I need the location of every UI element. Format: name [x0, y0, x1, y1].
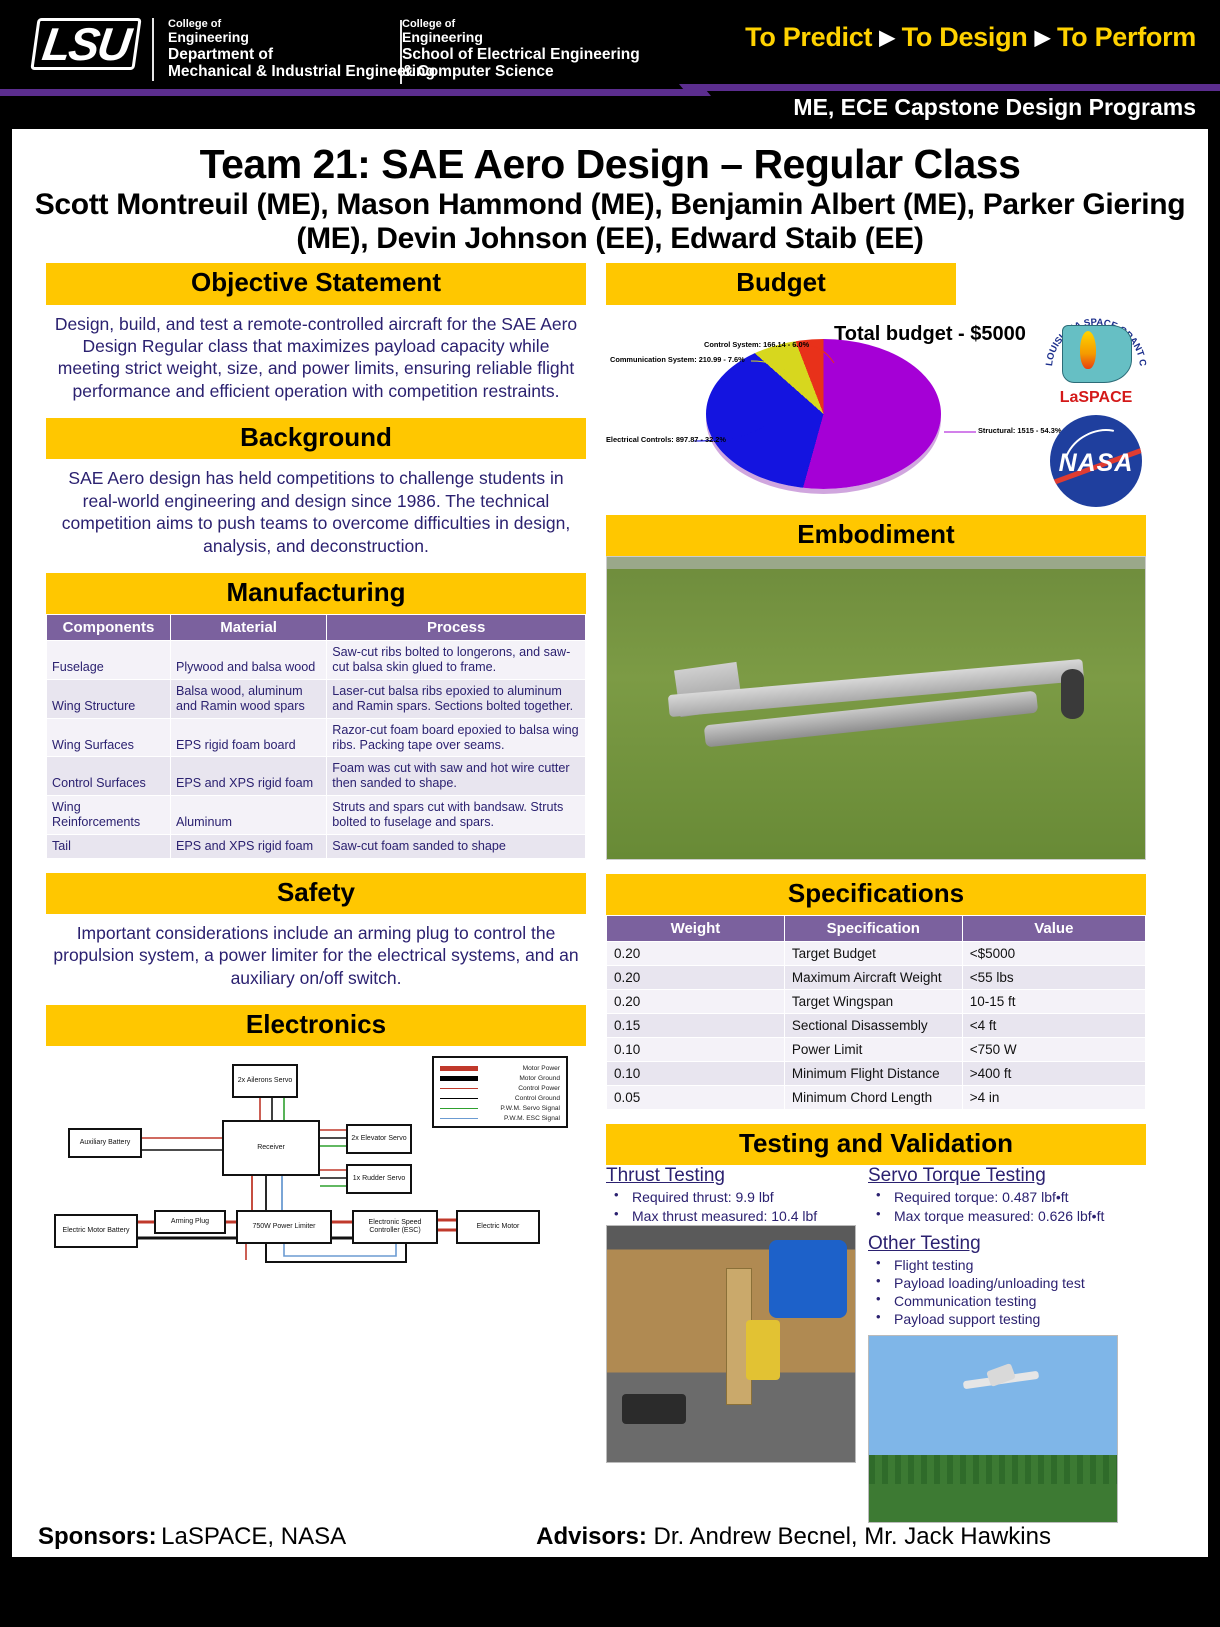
electronics-legend: Motor PowerMotor GroundControl PowerCont… — [432, 1056, 568, 1128]
table-cell: 10-15 ft — [962, 990, 1145, 1014]
poster-header: LSU College of Engineering Department of… — [0, 0, 1220, 88]
header-tagline: To Predict ▶ To Design ▶ To Perform — [745, 22, 1196, 53]
table-row: 0.20Target Budget<$5000 — [607, 942, 1146, 966]
list-item: Max torque measured: 0.626 lbf•ft — [868, 1207, 1146, 1225]
advisors-label: Advisors: — [536, 1523, 647, 1550]
legend-row-0: Motor Power — [440, 1063, 560, 1073]
photo-treeline — [869, 1455, 1117, 1485]
mfg-body-col-2: Process — [327, 615, 586, 641]
testing-heading: Testing and Validation — [606, 1124, 1146, 1165]
servo-torque-testing-list: Required torque: 0.487 lbf•ftMax torque … — [868, 1188, 1146, 1224]
mfg-body-header-row: ComponentsMaterialProcess — [47, 615, 586, 641]
poster-root: LSU College of Engineering Department of… — [0, 0, 1220, 1627]
poster-footnote: Sponsors: LaSPACE, NASA Advisors: Dr. An… — [12, 1523, 1208, 1551]
table-cell: Minimum Chord Length — [784, 1086, 962, 1110]
table-cell: 0.20 — [607, 966, 785, 990]
specifications-heading: Specifications — [606, 874, 1146, 915]
me-department-of: Department of — [168, 46, 435, 63]
budget-pie-wrap: Control System: 166.14 - 6.0% Communicat… — [676, 329, 976, 489]
sponsors-block: Sponsors: LaSPACE, NASA — [38, 1523, 346, 1551]
photo-base-plate — [622, 1394, 686, 1424]
table-cell: Razor-cut foam board epoxied to balsa wi… — [327, 718, 586, 757]
testing-left-column: Thrust Testing Required thrust: 9.9 lbfM… — [606, 1165, 858, 1522]
legend-row-4: P.W.M. Servo Signal — [440, 1103, 560, 1113]
pie-label-communication-system: Communication System: 210.99 - 7.6% — [610, 355, 745, 364]
objective-section: Objective Statement Design, build, and t… — [46, 263, 586, 404]
specifications-section: Specifications WeightSpecificationValue0… — [606, 874, 1146, 1110]
other-testing-list: Flight testingPayload loading/unloading … — [868, 1256, 1146, 1329]
legend-swatch-icon — [440, 1108, 478, 1110]
list-item: Payload support testing — [868, 1310, 1146, 1328]
list-item: Required torque: 0.487 lbf•ft — [868, 1188, 1146, 1206]
table-cell: <4 ft — [962, 1014, 1145, 1038]
table-row: Wing SurfacesEPS rigid foam boardRazor-c… — [47, 718, 586, 757]
table-cell: 0.10 — [607, 1062, 785, 1086]
photo-blue-bucket — [769, 1240, 847, 1318]
me-engineering: Engineering — [168, 30, 435, 46]
legend-label: P.W.M. ESC Signal — [504, 1115, 560, 1122]
pie-label-control-system: Control System: 166.14 - 6.0% — [704, 340, 809, 349]
table-cell: EPS rigid foam board — [170, 718, 326, 757]
table-row: 0.15Sectional Disassembly<4 ft — [607, 1014, 1146, 1038]
electronics-heading: Electronics — [46, 1005, 586, 1046]
lsu-logo: LSU — [30, 18, 141, 70]
electronics-diagram: 2x Ailerons ServoAuxiliary BatteryReceiv… — [46, 1046, 586, 1264]
objective-text: Design, build, and test a remote-control… — [46, 305, 586, 405]
arrow-icon-1: ▶ — [879, 27, 894, 49]
spec-body-col-0: Weight — [607, 916, 785, 942]
legend-row-2: Control Power — [440, 1083, 560, 1093]
header-subhead: ME, ECE Capstone Design Programs — [793, 94, 1196, 121]
poster-authors: Scott Montreuil (ME), Mason Hammond (ME)… — [32, 188, 1188, 255]
table-cell: Saw-cut foam sanded to shape — [327, 834, 586, 858]
table-cell: <55 lbs — [962, 966, 1145, 990]
table-row: Wing StructureBalsa wood, aluminum and R… — [47, 679, 586, 718]
nasa-logo: NASA — [1050, 415, 1142, 507]
table-cell: EPS and XPS rigid foam — [170, 757, 326, 796]
legend-label: P.W.M. Servo Signal — [500, 1105, 560, 1112]
table-cell: Minimum Flight Distance — [784, 1062, 962, 1086]
spec-body-header-row: WeightSpecificationValue — [607, 916, 1146, 942]
spec-body-col-2: Value — [962, 916, 1145, 942]
table-cell: Maximum Aircraft Weight — [784, 966, 962, 990]
laspace-logo: LOUISIANA SPACE GRANT CONSORTIUM LaSPACE — [1040, 313, 1152, 409]
arrow-icon-2: ▶ — [1035, 27, 1050, 49]
manufacturing-heading: Manufacturing — [46, 573, 586, 614]
nasa-wordmark: NASA — [1050, 449, 1142, 478]
table-cell: Sectional Disassembly — [784, 1014, 962, 1038]
footer-black-bar — [0, 1589, 1220, 1627]
flight-test-photo — [868, 1335, 1118, 1523]
table-cell: 0.20 — [607, 942, 785, 966]
safety-section: Safety Important considerations include … — [46, 873, 586, 991]
legend-row-3: Control Ground — [440, 1093, 560, 1103]
divider-2 — [400, 20, 402, 84]
specifications-table: WeightSpecificationValue0.20Target Budge… — [606, 915, 1146, 1110]
table-cell: Plywood and balsa wood — [170, 641, 326, 680]
legend-swatch-icon — [440, 1098, 478, 1100]
aircraft-illustration — [650, 635, 1102, 774]
right-column: Budget Total budget - $5000 Control S — [606, 263, 1146, 1536]
divider-1 — [152, 18, 154, 81]
legend-label: Motor Power — [523, 1065, 560, 1072]
laspace-wordmark: LaSPACE — [1040, 389, 1152, 407]
list-item: Payload loading/unloading test — [868, 1274, 1146, 1292]
servo-torque-testing-title: Servo Torque Testing — [868, 1165, 1146, 1187]
table-row: 0.10Power Limit<750 W — [607, 1038, 1146, 1062]
table-cell: >4 in — [962, 1086, 1145, 1110]
legend-swatch-icon — [440, 1118, 478, 1120]
embodiment-photo — [606, 556, 1146, 860]
table-cell: Wing Structure — [47, 679, 171, 718]
table-row: 0.10Minimum Flight Distance>400 ft — [607, 1062, 1146, 1086]
ece-department-text: College of Engineering School of Electri… — [402, 18, 640, 81]
photo-horizon — [607, 557, 1145, 569]
list-item: Communication testing — [868, 1292, 1146, 1310]
thrust-test-photo — [606, 1225, 856, 1463]
ece-school-of: School of Electrical Engineering — [402, 46, 640, 63]
table-row: Wing ReinforcementsAluminumStruts and sp… — [47, 796, 586, 835]
aircraft-propeller — [1061, 669, 1084, 719]
table-cell: Foam was cut with saw and hot wire cutte… — [327, 757, 586, 796]
spec-body-col-1: Specification — [784, 916, 962, 942]
table-row: TailEPS and XPS rigid foamSaw-cut foam s… — [47, 834, 586, 858]
budget-heading: Budget — [606, 263, 956, 304]
list-item: Max thrust measured: 10.4 lbf — [606, 1207, 858, 1225]
legend-label: Control Power — [518, 1085, 560, 1092]
background-section: Background SAE Aero design has held comp… — [46, 418, 586, 559]
photo-yellow-clamp — [746, 1320, 780, 1380]
testing-right-column: Servo Torque Testing Required torque: 0.… — [868, 1165, 1146, 1522]
table-cell: Laser-cut balsa ribs epoxied to aluminum… — [327, 679, 586, 718]
thrust-testing-title: Thrust Testing — [606, 1165, 858, 1187]
sponsors-value: LaSPACE, NASA — [161, 1523, 346, 1550]
table-cell: Struts and spars cut with bandsaw. Strut… — [327, 796, 586, 835]
legend-swatch-icon — [440, 1066, 478, 1071]
legend-label: Control Ground — [515, 1095, 560, 1102]
sponsors-label: Sponsors: — [38, 1523, 157, 1550]
budget-chart-area: Total budget - $5000 Control System: 166… — [606, 305, 1146, 501]
list-item: Flight testing — [868, 1256, 1146, 1274]
table-cell: Control Surfaces — [47, 757, 171, 796]
manufacturing-section: Manufacturing ComponentsMaterialProcessF… — [46, 573, 586, 859]
lsu-me-branding: LSU College of Engineering Department of… — [34, 18, 435, 81]
tagline-perform: To Perform — [1057, 22, 1196, 52]
tagline-design: To Design — [902, 22, 1028, 52]
legend-label: Motor Ground — [519, 1075, 560, 1082]
purple-bar-left — [0, 89, 690, 96]
poster-body: Team 21: SAE Aero Design – Regular Class… — [12, 129, 1208, 1557]
budget-section: Budget Total budget - $5000 Control S — [606, 263, 1146, 500]
legend-swatch-icon — [440, 1088, 478, 1090]
tagline-predict: To Predict — [745, 22, 872, 52]
purple-bar-right — [700, 84, 1220, 91]
thrust-testing-list: Required thrust: 9.9 lbfMax thrust measu… — [606, 1188, 858, 1224]
advisors-block: Advisors: Dr. Andrew Becnel, Mr. Jack Ha… — [536, 1523, 1051, 1551]
table-cell: EPS and XPS rigid foam — [170, 834, 326, 858]
table-row: 0.20Maximum Aircraft Weight<55 lbs — [607, 966, 1146, 990]
testing-section: Testing and Validation Thrust Testing Re… — [606, 1124, 1146, 1522]
list-item: Required thrust: 9.9 lbf — [606, 1188, 858, 1206]
background-heading: Background — [46, 418, 586, 459]
manufacturing-table: ComponentsMaterialProcessFuselagePlywood… — [46, 614, 586, 858]
advisors-value: Dr. Andrew Becnel, Mr. Jack Hawkins — [653, 1523, 1050, 1550]
table-row: FuselagePlywood and balsa woodSaw-cut ri… — [47, 641, 586, 680]
title-block: Team 21: SAE Aero Design – Regular Class… — [12, 129, 1208, 255]
legend-row-5: P.W.M. ESC Signal — [440, 1113, 560, 1123]
table-cell: 0.05 — [607, 1086, 785, 1110]
table-row: 0.05Minimum Chord Length>4 in — [607, 1086, 1146, 1110]
table-cell: >400 ft — [962, 1062, 1145, 1086]
purple-accent-bar — [0, 84, 1220, 94]
table-cell: Tail — [47, 834, 171, 858]
left-column: Objective Statement Design, build, and t… — [46, 263, 586, 1536]
table-row: Control SurfacesEPS and XPS rigid foamFo… — [47, 757, 586, 796]
table-cell: 0.20 — [607, 990, 785, 1014]
content-columns: Objective Statement Design, build, and t… — [12, 255, 1208, 1536]
table-cell: 0.15 — [607, 1014, 785, 1038]
pie-label-electrical-controls: Electrical Controls: 897.87 - 32.2% — [606, 435, 726, 444]
table-cell: Target Budget — [784, 942, 962, 966]
lsu-ece-branding: College of Engineering School of Electri… — [402, 18, 640, 81]
table-cell: Saw-cut ribs bolted to longerons, and sa… — [327, 641, 586, 680]
objective-heading: Objective Statement — [46, 263, 586, 304]
mfg-body-col-1: Material — [170, 615, 326, 641]
other-testing-title: Other Testing — [868, 1233, 1146, 1255]
background-text: SAE Aero design has held competitions to… — [46, 459, 586, 559]
ece-engineering: Engineering — [402, 30, 640, 46]
table-cell: Balsa wood, aluminum and Ramin wood spar… — [170, 679, 326, 718]
poster-title: Team 21: SAE Aero Design – Regular Class — [32, 143, 1188, 186]
electronics-section: Electronics 2x Ailerons ServoAuxiliary B… — [46, 1005, 586, 1264]
ece-school-name: & Computer Science — [402, 63, 640, 80]
safety-text: Important considerations include an armi… — [46, 914, 586, 991]
table-row: 0.20Target Wingspan10-15 ft — [607, 990, 1146, 1014]
table-cell: Power Limit — [784, 1038, 962, 1062]
table-cell: <750 W — [962, 1038, 1145, 1062]
embodiment-section: Embodiment — [606, 515, 1146, 860]
me-department-text: College of Engineering Department of Mec… — [168, 18, 435, 81]
safety-heading: Safety — [46, 873, 586, 914]
me-department-name: Mechanical & Industrial Engineering — [168, 63, 435, 80]
table-cell: Wing Surfaces — [47, 718, 171, 757]
table-cell: <$5000 — [962, 942, 1145, 966]
table-cell: Fuselage — [47, 641, 171, 680]
embodiment-heading: Embodiment — [606, 515, 1146, 556]
mfg-body-col-0: Components — [47, 615, 171, 641]
table-cell: 0.10 — [607, 1038, 785, 1062]
table-cell: Target Wingspan — [784, 990, 962, 1014]
table-cell: Aluminum — [170, 796, 326, 835]
legend-row-1: Motor Ground — [440, 1073, 560, 1083]
flame-icon — [1080, 331, 1096, 369]
legend-swatch-icon — [440, 1076, 478, 1081]
pie-label-structural: Structural: 1515 - 54.3% — [978, 426, 1061, 435]
louisiana-state-shape — [1062, 325, 1132, 383]
table-cell: Wing Reinforcements — [47, 796, 171, 835]
testing-columns: Thrust Testing Required thrust: 9.9 lbfM… — [606, 1165, 1146, 1522]
